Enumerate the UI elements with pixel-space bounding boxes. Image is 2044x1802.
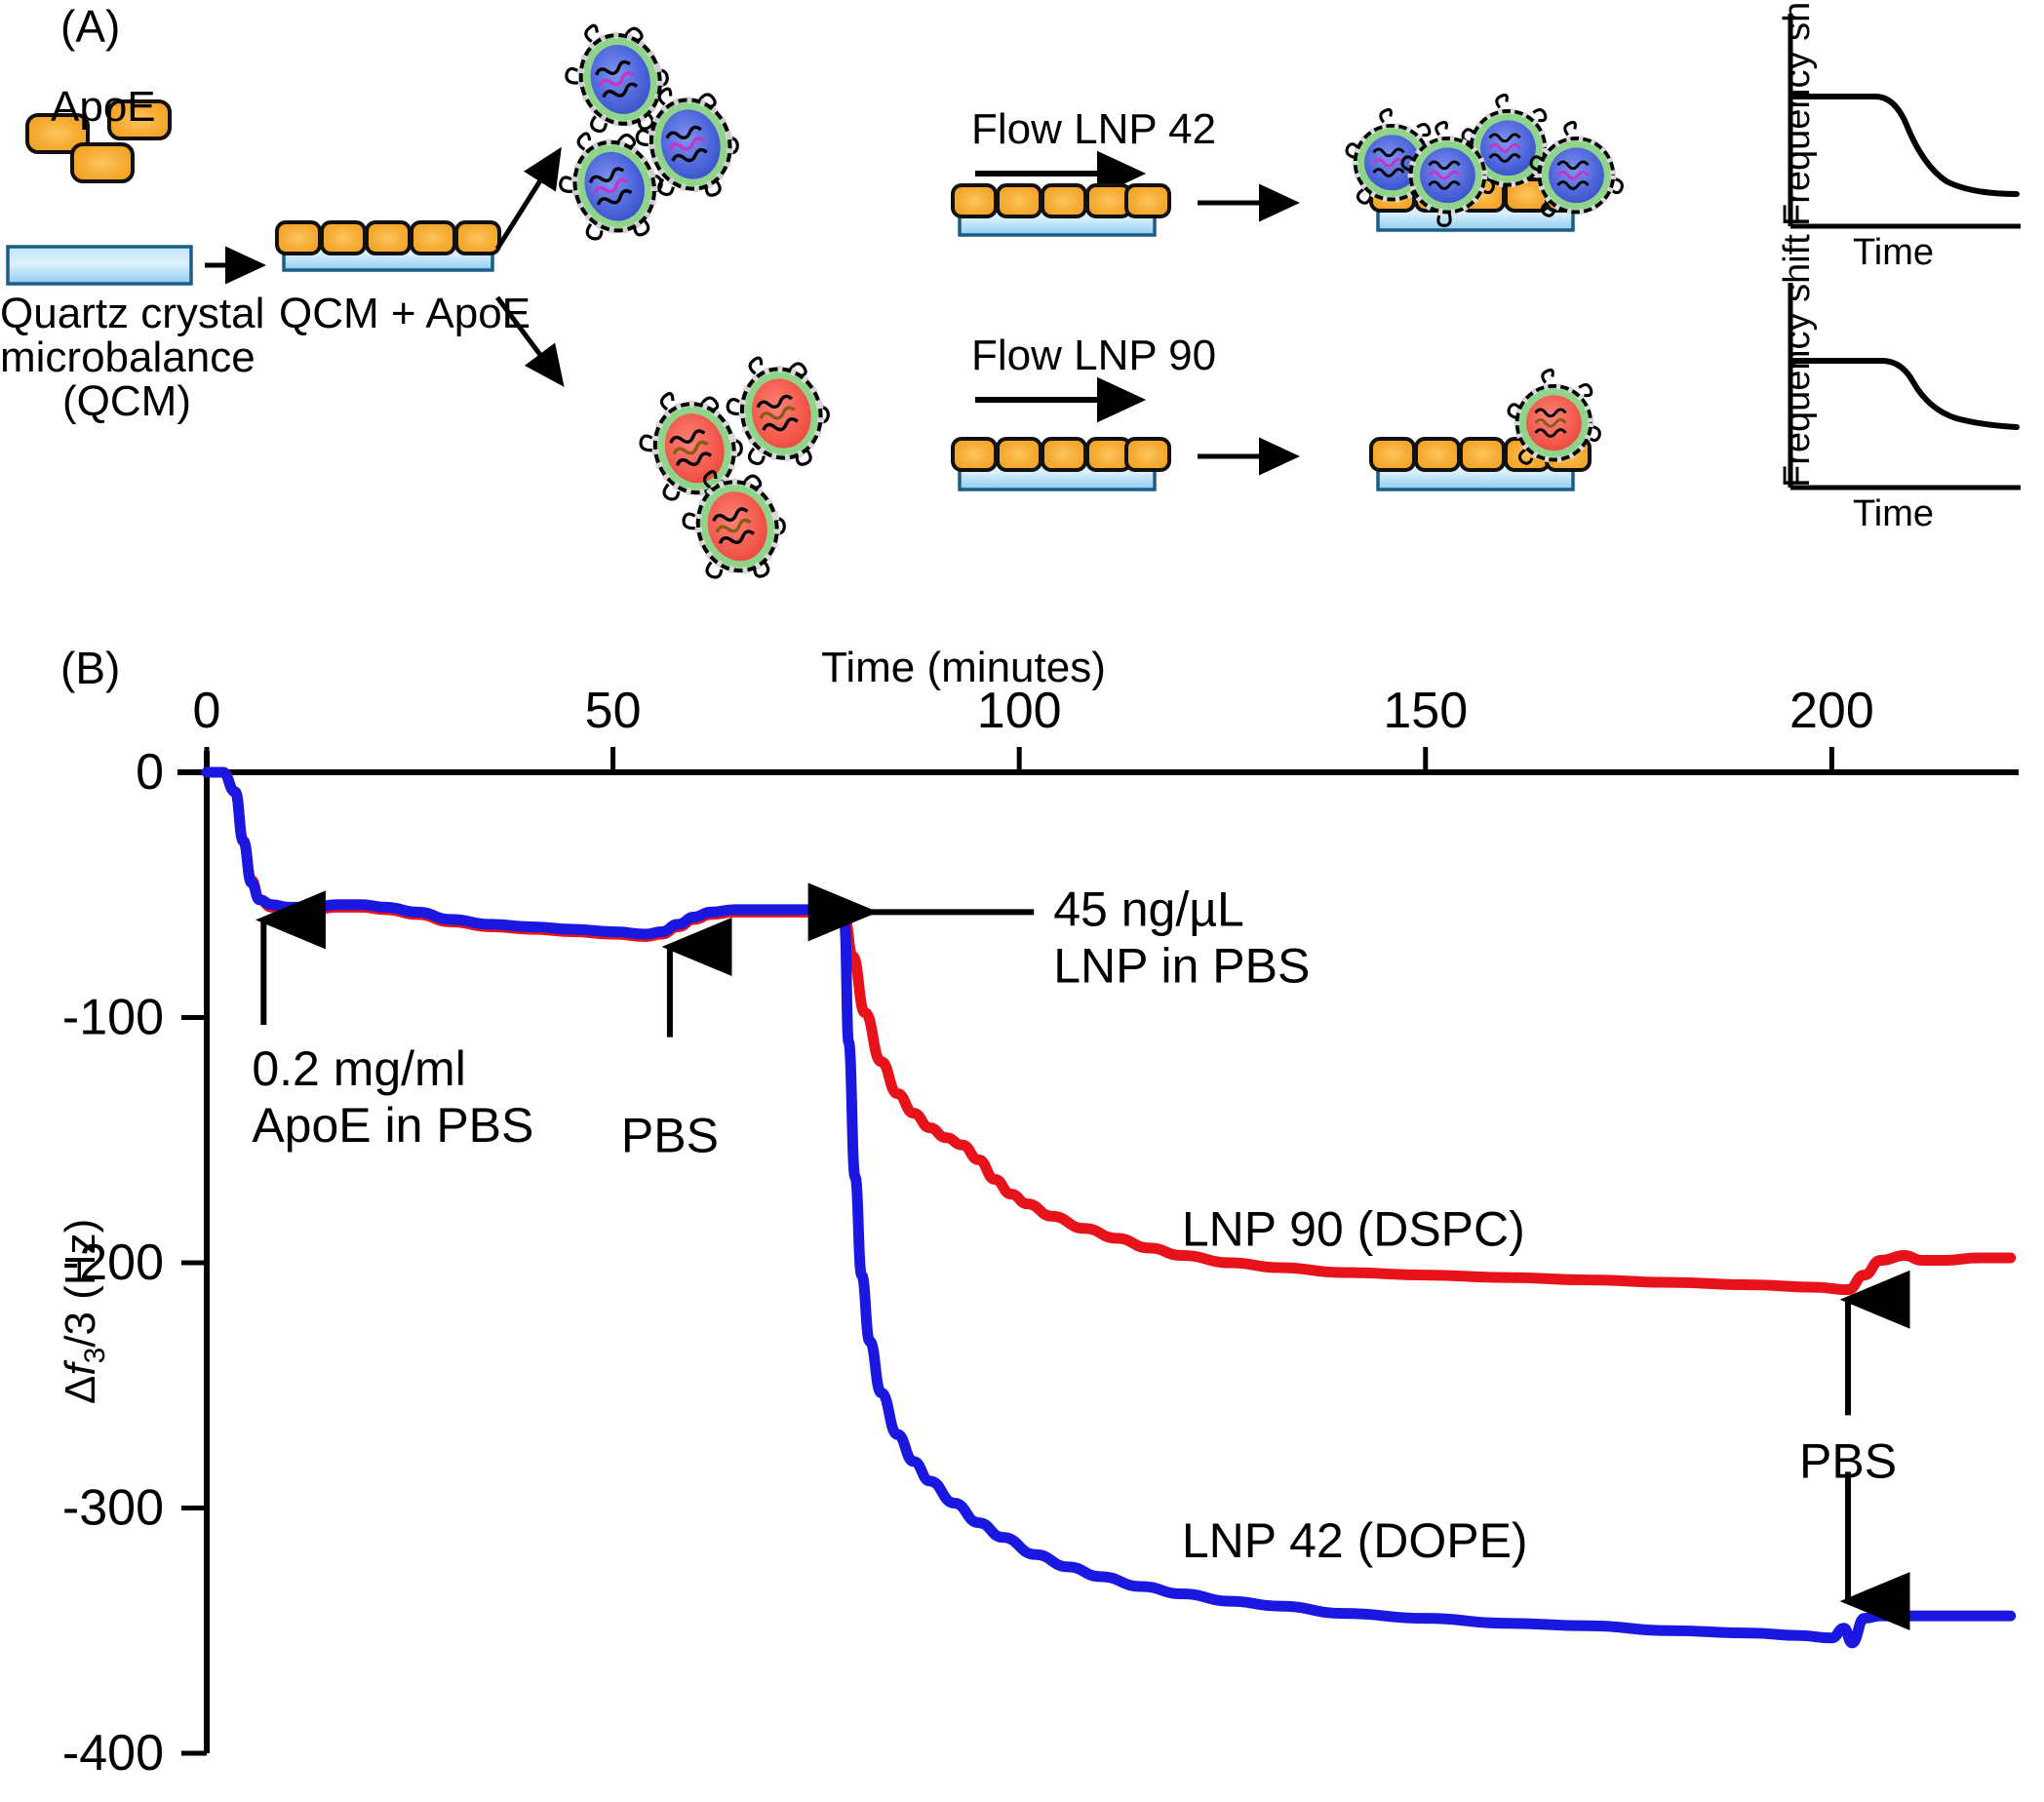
series-label-lnp90: LNP 90 (DSPC): [1182, 1201, 1525, 1256]
x-tick-label-50: 50: [585, 683, 642, 739]
inset-top-ylabel: Frequency shift: [1777, 0, 1819, 226]
ylabel-subscript: 3: [79, 1348, 111, 1364]
x-tick-label-200: 200: [1789, 683, 1874, 739]
inset-chart-lnp90: [1790, 283, 2021, 488]
x-tick-label-0: 0: [193, 683, 221, 739]
branch-arrow-up: [497, 156, 556, 249]
series-label-lnp42: LNP 42 (DOPE): [1182, 1513, 1528, 1568]
flow-lnp90-label: Flow LNP 90: [971, 332, 1216, 379]
y-tick-label--300: -300: [62, 1480, 164, 1537]
lnp42-free-particles: [547, 9, 748, 255]
qcm-with-bound-lnp90: [1371, 370, 1599, 490]
ylabel-f: f: [57, 1363, 104, 1375]
lnp90-free-particles: [629, 344, 839, 592]
inset-top-xlabel: Time: [1853, 232, 1934, 274]
quartz-crystal-bare: [8, 247, 191, 284]
y-tick-label-0: 0: [136, 744, 164, 801]
x-tick-label-150: 150: [1383, 683, 1468, 739]
qcm-with-bound-lnp42: [1347, 95, 1622, 230]
panel-b-qcm-chart: (B) Time (minutes) 0501001502000-100-200…: [0, 624, 2044, 1802]
pbs-final-label: PBS: [1799, 1433, 1897, 1488]
x-axis: 050100150200: [177, 683, 2019, 772]
qcm-apoe-before-lnp42: [953, 185, 1169, 235]
quartz-crystal-label-line3: (QCM): [0, 377, 254, 425]
chart-annotations: 0.2 mg/mlApoE in PBSPBS45 ng/µLLNP in PB…: [252, 881, 1897, 1601]
y-tick-label--100: -100: [62, 990, 164, 1046]
pbs-rinse-label: PBS: [621, 1109, 719, 1163]
inset-bottom-ylabel: Frequency shift: [1777, 234, 1819, 488]
lnp-injection-label-line1: 45 ng/µL: [1053, 881, 1244, 936]
apoe-injection-label-line1: 0.2 mg/ml: [252, 1041, 466, 1096]
ylabel-delta: Δ: [57, 1376, 104, 1404]
apoe-injection-label-line2: ApoE in PBS: [252, 1098, 533, 1153]
qcm-apoe-assembly: [277, 222, 499, 270]
quartz-crystal-label-line1: Quartz crystal: [0, 290, 254, 337]
inset-bottom-xlabel: Time: [1853, 493, 1934, 535]
flow-lnp42-label: Flow LNP 42: [971, 105, 1216, 153]
series-lnp90: [207, 772, 2011, 1290]
series-line-lnp90: [207, 772, 2011, 1290]
lnp-injection-label-line2: LNP in PBS: [1053, 938, 1310, 993]
panel-a-schematic: (A): [0, 0, 2044, 605]
apoe-label: ApoE: [51, 83, 156, 131]
x-tick-label-100: 100: [977, 683, 1062, 739]
inset-chart-lnp42: [1790, 14, 2021, 226]
qcm-apoe-before-lnp90: [953, 439, 1169, 490]
chart-ylabel: Δf3/3 (Hz): [57, 1219, 112, 1404]
y-tick-label--400: -400: [62, 1725, 164, 1782]
ylabel-rest: /3 (Hz): [57, 1219, 104, 1348]
qcm-apoe-label: QCM + ApoE: [279, 290, 531, 337]
quartz-crystal-label-line2: microbalance: [0, 333, 254, 381]
